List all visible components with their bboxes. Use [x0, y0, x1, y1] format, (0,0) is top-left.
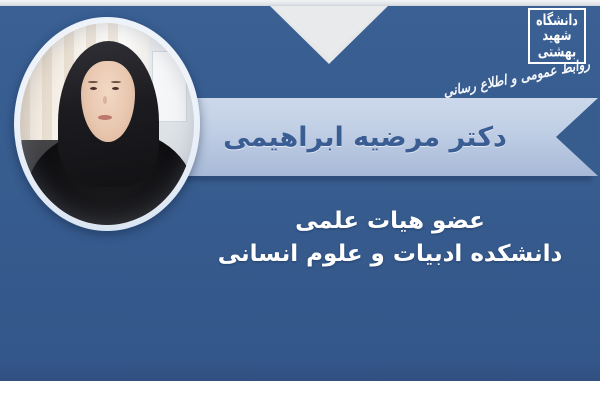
faculty-announcement-card: دکتر مرضیه ابراهیمی عضو هیات علمی دانشکد…: [0, 0, 600, 400]
portrait-photo: [20, 23, 194, 225]
logo-text-line-2: شهید: [543, 28, 572, 44]
role-subtitle: عضو هیات علمی دانشکده ادبیات و علوم انسا…: [190, 205, 590, 270]
name-ribbon: دکتر مرضیه ابراهیمی: [150, 98, 598, 176]
logo-frame-icon: دانشگاه شهید بهشتی: [528, 8, 586, 64]
portrait-avatar: [14, 17, 200, 231]
bottom-gradient-shade: [0, 355, 600, 381]
university-logo: دانشگاه شهید بهشتی روابط عمومی و اطلاع ر…: [498, 8, 594, 96]
photo-vignette: [20, 23, 194, 225]
role-line-position: عضو هیات علمی: [190, 205, 590, 238]
logo-text-line-1: دانشگاه: [536, 13, 578, 29]
logo-text-line-3: بهشتی: [538, 44, 576, 60]
bottom-white-margin: [0, 381, 600, 400]
role-line-faculty: دانشکده ادبیات و علوم انسانی: [190, 238, 590, 271]
